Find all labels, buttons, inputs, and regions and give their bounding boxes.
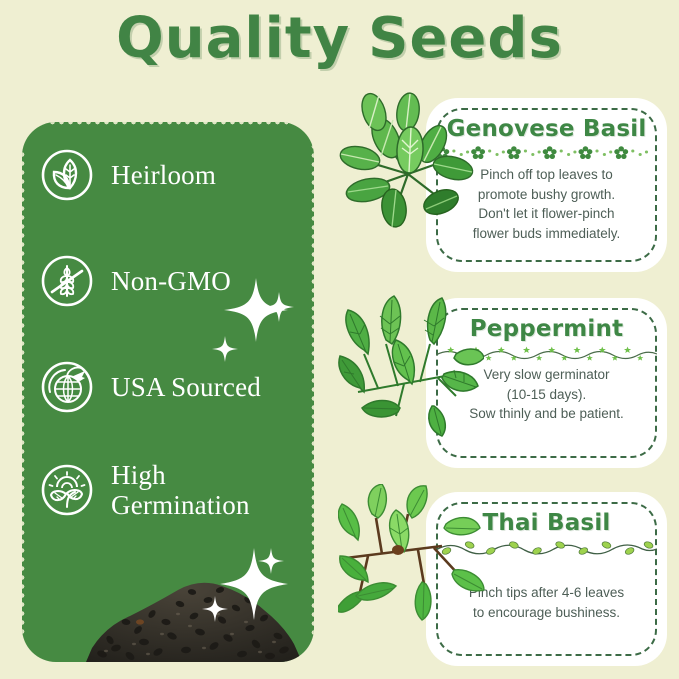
panel-edge-scallop-right: [311, 142, 314, 642]
card-text-line: Pinch tips after 4-6 leaves: [469, 583, 624, 603]
herb-card-genovese-basil[interactable]: Genovese Basil: [338, 84, 679, 280]
card-text-line: to encourage bushiness.: [469, 603, 624, 623]
card-title-peppermint: Peppermint: [470, 316, 624, 342]
flower-divider: [436, 145, 657, 161]
features-panel: Heirloom: [22, 122, 314, 662]
wavy-leaf-vine-divider: [436, 539, 657, 555]
herb-card-thai-basil[interactable]: Thai Basil: [338, 478, 679, 674]
feature-item-usa-sourced[interactable]: USA Sourced: [40, 360, 302, 414]
panel-edge-scallop-left: [22, 150, 25, 634]
vine-star-divider: [436, 345, 657, 361]
feature-label-high-germination: High Germination: [111, 460, 250, 520]
card-text-peppermint: Very slow germinator (10-15 days). Sow t…: [463, 365, 630, 424]
card-text-line: promote bushy growth.: [473, 185, 621, 205]
card-text-genovese-basil: Pinch off top leaves to promote bushy gr…: [467, 165, 627, 243]
page-title-word-2: Seeds: [368, 6, 563, 71]
card-text-line: flower buds immediately.: [473, 224, 621, 244]
card-title-genovese-basil: Genovese Basil: [447, 116, 647, 142]
basil-seed-pile-image: [82, 556, 312, 662]
card-text-line: Pinch off top leaves to: [473, 165, 621, 185]
no-gmo-wheat-icon: [40, 254, 94, 308]
feature-label-line-2: Germination: [111, 490, 250, 520]
card-title-thai-basil: Thai Basil: [483, 510, 611, 536]
seed-leaves-icon: [40, 148, 94, 202]
card-text-thai-basil: Pinch tips after 4-6 leaves to encourage…: [463, 583, 630, 622]
feature-item-non-gmo[interactable]: Non-GMO: [40, 254, 302, 308]
card-text-line: Don't let it flower-pinch: [473, 204, 621, 224]
poster-root: QualitySeeds: [0, 0, 679, 679]
feature-item-high-germination[interactable]: High Germination: [40, 460, 302, 520]
page-title: QualitySeeds: [0, 10, 679, 69]
features-panel-background: Heirloom: [22, 122, 314, 662]
globe-airplane-icon: [40, 360, 94, 414]
card-text-line: (10-15 days).: [469, 385, 624, 405]
card-text-line: Sow thinly and be patient.: [469, 404, 624, 424]
feature-label-non-gmo: Non-GMO: [111, 266, 231, 296]
herb-card-peppermint[interactable]: Peppermint: [338, 284, 679, 476]
herb-cards-column: Genovese Basil: [338, 84, 679, 676]
panel-edge-scallop-top: [48, 122, 288, 125]
feature-label-usa-sourced: USA Sourced: [111, 372, 261, 402]
card-text-line: Very slow germinator: [469, 365, 624, 385]
feature-label-line-1: High: [111, 460, 166, 490]
sprout-sun-icon: [40, 463, 94, 517]
page-title-word-1: Quality: [116, 6, 350, 71]
feature-item-heirloom[interactable]: Heirloom: [40, 148, 302, 202]
feature-label-heirloom: Heirloom: [111, 160, 216, 190]
